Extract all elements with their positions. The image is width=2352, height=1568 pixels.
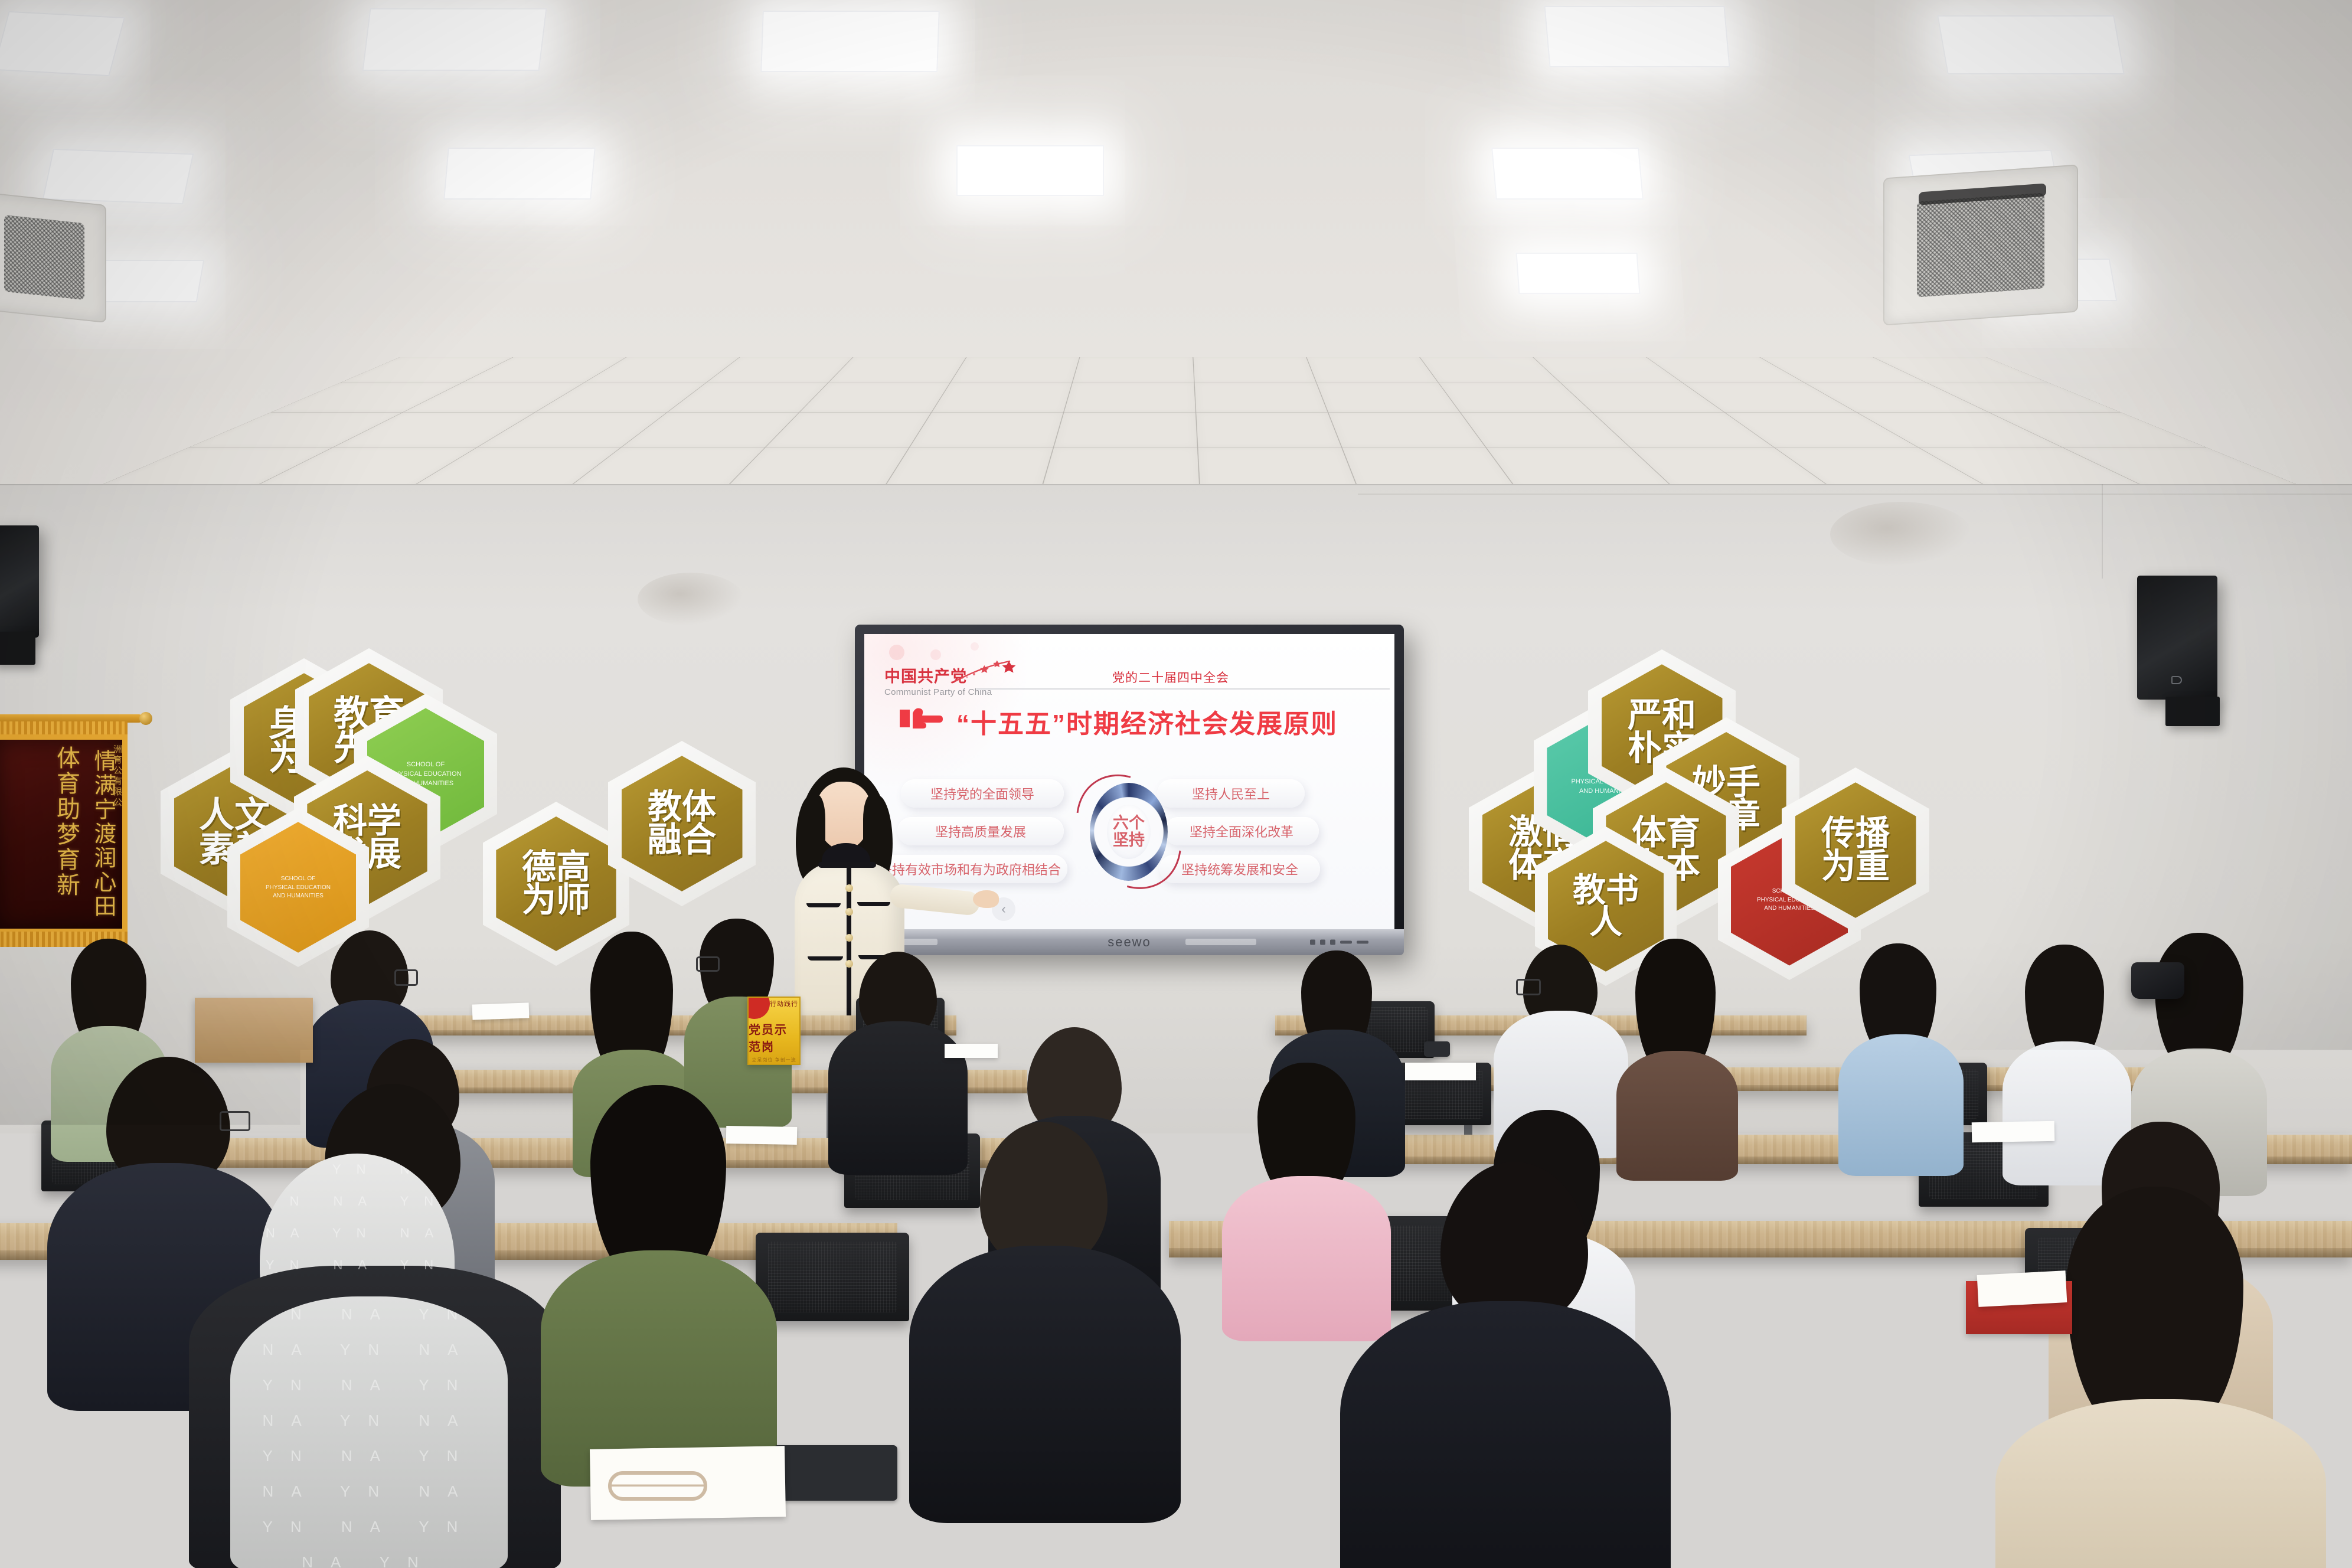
banner: 情满宁渡润心田 体育助梦育新 洲育公有限公	[0, 714, 128, 950]
display-ports[interactable]	[1310, 940, 1368, 945]
ceiling-tile	[1193, 357, 1317, 383]
ceiling-tile	[932, 383, 1072, 412]
ceiling-tile	[1198, 447, 1358, 489]
banner-column-1: 情满宁渡润心田	[90, 749, 114, 920]
presenter-hand	[973, 890, 999, 908]
ceiling-tile	[950, 357, 1080, 383]
hex-text: 教体融合	[638, 741, 726, 906]
hex-char: 合	[682, 824, 716, 857]
jacket-button	[845, 908, 853, 916]
hex-char: 为	[1821, 850, 1856, 883]
ceiling-tile	[909, 412, 1063, 447]
ceiling-light-panel	[1491, 148, 1644, 200]
attendee-torso	[909, 1246, 1181, 1523]
ceiling-light-panel	[760, 11, 940, 72]
wall-seam	[2102, 484, 2103, 579]
principle-pill: 坚持统筹发展和安全	[1159, 855, 1320, 883]
jacket-button	[845, 884, 853, 892]
poster-headline: 党员示范岗	[749, 1020, 799, 1054]
attendee-torso	[1222, 1176, 1391, 1341]
hex-char: 展	[367, 838, 401, 871]
paper-sheet	[726, 1126, 798, 1145]
flower-ornament	[205, 1436, 235, 1465]
meeting-label: 党的二十届四中全会	[1112, 668, 1229, 686]
hex-char: 人	[1589, 906, 1622, 938]
classroom-photo: 情满宁渡润心田 体育助梦育新 洲育公有限公 人文素养 身正为范 教育先行 SCH…	[0, 0, 2352, 1568]
hex-char: 为	[522, 884, 556, 917]
paper-sheet	[945, 1044, 998, 1058]
ceiling-tile	[1041, 447, 1200, 489]
banner-column-2: 体育助梦育新	[54, 746, 79, 923]
ceiling-tile	[1054, 412, 1198, 447]
ceiling-tile	[828, 357, 966, 383]
wall-seam	[1358, 494, 2352, 495]
poster-line-bottom: 立足岗位 争创一流	[752, 1057, 796, 1063]
hex-char: 德	[522, 851, 556, 884]
hex-char: 融	[648, 824, 682, 857]
ceiling-light-panel	[1516, 253, 1641, 294]
principle-pill: 坚持人民至上	[1157, 779, 1305, 808]
ceiling-tile	[1306, 357, 1439, 383]
hex-en-line: PHYSICAL EDUCATION	[266, 884, 331, 891]
header-divider	[976, 688, 1390, 690]
wall-smudge	[638, 573, 744, 626]
center-ring-graphic: 六个 坚持	[1090, 783, 1168, 881]
attendee-glasses-icon	[220, 1111, 250, 1131]
ceiling-light-panel	[1544, 6, 1730, 67]
ceiling-ac-cassette	[0, 192, 106, 323]
cpc-star-comet-icon	[953, 656, 1024, 684]
cardboard-box	[195, 998, 313, 1063]
jacket-pocket-trim	[808, 956, 843, 961]
ceiling-light-panel	[443, 148, 596, 200]
ring-line-2: 坚持	[1113, 832, 1145, 849]
ceiling-tile	[1328, 412, 1485, 447]
display-brand-label: seewo	[1108, 935, 1151, 950]
hex-char: 播	[1856, 817, 1890, 850]
hex-char: 教	[648, 790, 682, 824]
hex-char: 师	[556, 884, 590, 917]
open-notebook	[1977, 1270, 2067, 1307]
hex-tile-chuanbo: 传播为重	[1782, 767, 1929, 933]
hex-char: 高	[556, 851, 590, 884]
jacket-pocket-trim	[857, 902, 890, 906]
ceiling-tile	[1072, 357, 1194, 383]
wall-seam	[0, 484, 2352, 485]
speaker-logo-icon	[2171, 676, 2182, 684]
jacket-collar	[818, 862, 876, 868]
ceiling-tile	[1196, 412, 1342, 447]
pointing-hand-icon	[900, 704, 946, 732]
wall-speaker-bracket	[2165, 697, 2220, 726]
hex-tile-jiaoti: 教体融合	[608, 741, 756, 906]
hex-char: 书	[1606, 874, 1639, 906]
attendee-glasses-icon	[696, 956, 720, 972]
ceiling-light-panel	[0, 11, 125, 76]
principle-pill: 坚持全面深化改革	[1164, 817, 1319, 845]
ceiling-light-panel	[956, 145, 1104, 196]
decor-dot	[889, 645, 904, 660]
bezel-sensor-strip	[1185, 939, 1256, 945]
ceiling-tile	[1317, 383, 1461, 412]
ceiling-tile	[1194, 383, 1328, 412]
attendee-torso	[1340, 1301, 1671, 1568]
attendee-hair	[2066, 1187, 2243, 1435]
hex-text: 传播为重	[1811, 767, 1900, 933]
ceiling-light-panel	[1937, 15, 2125, 74]
cpc-logo-en: Communist Party of China	[884, 687, 992, 697]
hex-en-line: AND HUMANITIES	[273, 893, 324, 899]
smartphone[interactable]	[1424, 1041, 1450, 1057]
attendee-torso	[1838, 1034, 1964, 1176]
wall-speaker-bracket	[0, 632, 35, 665]
wall-smudge	[1830, 502, 1972, 567]
ring-line-1: 六个	[1113, 815, 1145, 832]
hex-text: 德高为师	[512, 802, 600, 966]
ceiling-light-panel	[43, 149, 194, 204]
paper-sheet	[1405, 1063, 1476, 1080]
chair	[756, 1233, 909, 1321]
ceiling-light-panel	[362, 8, 547, 71]
hex-char: 体	[682, 790, 716, 824]
hex-en-line: SCHOOL OF	[281, 876, 316, 882]
banner-column-3: 洲育公有限公	[112, 744, 121, 833]
ring-center-label: 六个 坚持	[1107, 805, 1151, 860]
jacket-button	[845, 960, 853, 968]
attendee-glasses-icon	[394, 969, 418, 986]
decor-dot	[930, 649, 941, 660]
paper-sheet	[1972, 1121, 2055, 1142]
handheld-camera	[2131, 962, 2184, 999]
jacket-pocket-trim	[806, 903, 841, 907]
jacket-button	[845, 934, 853, 942]
attendee-glasses-icon	[1516, 979, 1541, 995]
ceiling-tile	[883, 447, 1053, 489]
paper-sheet	[472, 1002, 530, 1020]
attendee-torso	[1616, 1051, 1738, 1181]
eyeglasses-icon	[608, 1471, 707, 1501]
banner-cloth: 情满宁渡润心田 体育助梦育新 洲育公有限公	[0, 734, 128, 934]
hex-char: 学	[367, 805, 401, 838]
decor-dot	[971, 642, 979, 651]
hex-char: 重	[1856, 850, 1890, 883]
poster: 以实际行动践行宗旨 党员示范岗 立足岗位 争创一流	[747, 997, 801, 1065]
attendee-torso	[1995, 1399, 2326, 1568]
wall-speaker	[0, 525, 39, 638]
smartphone[interactable]	[773, 1445, 897, 1501]
slide-title: “十五五”时期经济社会发展原则	[956, 703, 1338, 740]
wall-speaker	[2137, 576, 2217, 700]
ceiling-tile	[1064, 383, 1196, 412]
hex-char: 教	[1573, 874, 1606, 906]
hex-char: 传	[1821, 817, 1856, 850]
